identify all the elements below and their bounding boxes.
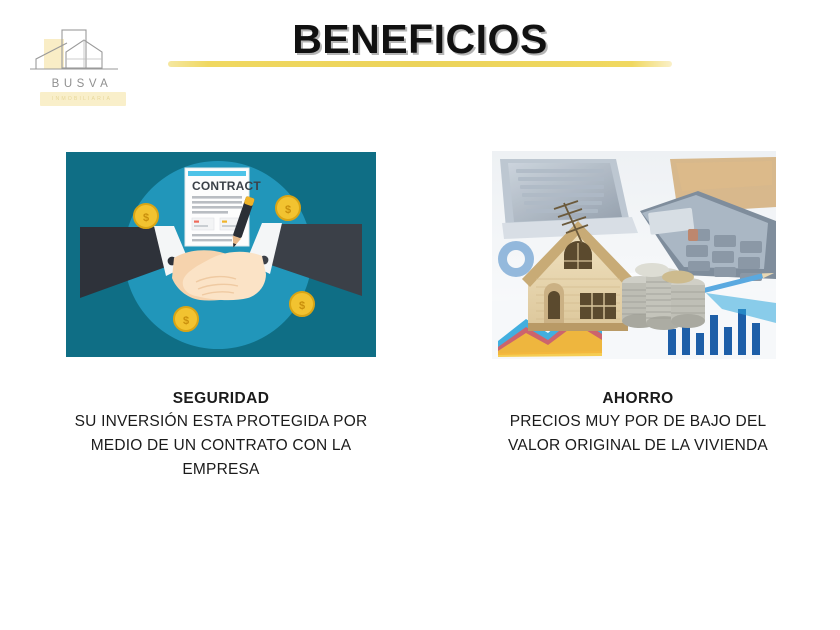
benefit-body-line: VALOR ORIGINAL DE LA VIVIENDA xyxy=(452,434,824,458)
handshake-contract-illustration: CONTRACT xyxy=(66,152,376,357)
svg-text:CONTRACT: CONTRACT xyxy=(192,179,261,193)
svg-text:$: $ xyxy=(143,212,149,224)
benefit-caption-seguridad: SEGURIDAD SU INVERSIÓN ESTA PROTEGIDA PO… xyxy=(26,388,416,481)
page-title: BENEFICIOS xyxy=(0,16,840,63)
benefit-heading: SEGURIDAD xyxy=(26,388,416,410)
benefit-caption-ahorro: AHORRO PRECIOS MUY POR DE BAJO DEL VALOR… xyxy=(452,388,824,458)
title-underline-rule xyxy=(168,61,672,67)
slide-beneficios: BUSVA INMOBILIARIA BENEFICIOS CONTRACT xyxy=(0,0,840,630)
benefit-body-line: MEDIO DE UN CONTRATO CON LA xyxy=(26,434,416,458)
benefit-body-line: PRECIOS MUY POR DE BAJO DEL xyxy=(452,410,824,434)
logo-subtitle: INMOBILIARIA xyxy=(22,96,142,102)
benefit-body-line: EMPRESA xyxy=(26,458,416,482)
logo-wordmark: BUSVA xyxy=(22,78,142,90)
svg-text:$: $ xyxy=(285,204,291,216)
model-house-savings-photo xyxy=(492,151,776,359)
benefit-body-line: SU INVERSIÓN ESTA PROTEGIDA POR xyxy=(26,410,416,434)
svg-text:$: $ xyxy=(299,300,305,312)
benefit-heading: AHORRO xyxy=(452,388,824,410)
svg-text:$: $ xyxy=(183,315,189,327)
